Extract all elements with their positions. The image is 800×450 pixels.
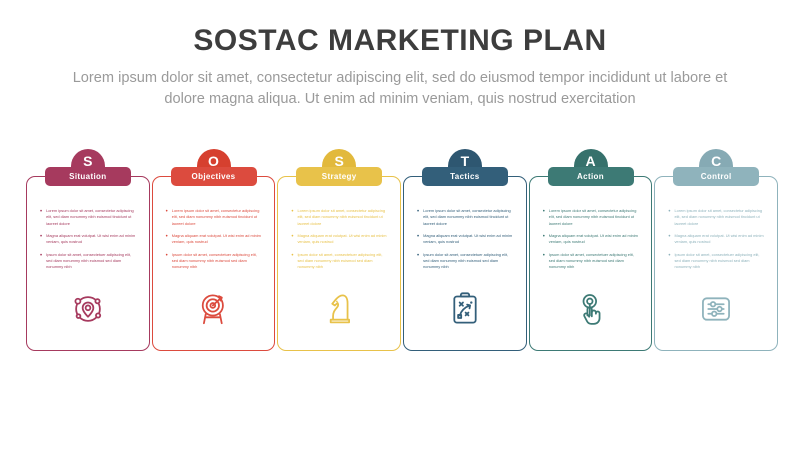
infographic-root: SOSTAC MARKETING PLAN Lorem ipsum dolor … <box>0 0 800 450</box>
bullet-text: Magna aliquam erat volutpat. Ut wisi eni… <box>423 233 513 246</box>
card-letter: O <box>208 154 219 168</box>
bullet-dot-icon: • <box>417 252 419 271</box>
sliders-settings-icon <box>696 289 736 329</box>
bullet-item: •Lorem ipsum dolor sit amet, consectetur… <box>40 208 136 227</box>
bullet-text: Lorem ipsum dolor sit amet, consectetur … <box>172 208 262 227</box>
card-title-label: Control <box>701 172 732 181</box>
header: SOSTAC MARKETING PLAN Lorem ipsum dolor … <box>0 0 800 110</box>
bullet-dot-icon: • <box>166 208 168 227</box>
sostac-card-action[interactable]: AAction•Lorem ipsum dolor sit amet, cons… <box>529 176 653 351</box>
bullet-dot-icon: • <box>543 233 545 246</box>
bullet-item: •Magna aliquam erat volutpat. Ut wisi en… <box>668 233 764 246</box>
bullet-dot-icon: • <box>40 233 42 246</box>
bullet-dot-icon: • <box>543 252 545 271</box>
bullet-dot-icon: • <box>543 208 545 227</box>
card-letter: S <box>335 154 344 168</box>
bullet-item: •Ipsum dolor sit amet, consectetuer adip… <box>668 252 764 271</box>
card-letter: T <box>461 154 470 168</box>
bullet-item: •Magna aliquam erat volutpat. Ut wisi en… <box>543 233 639 246</box>
bullet-item: •Lorem ipsum dolor sit amet, consectetur… <box>417 208 513 227</box>
bullet-item: •Ipsum dolor sit amet, consectetuer adip… <box>543 252 639 271</box>
card-bullet-list: •Lorem ipsum dolor sit amet, consectetur… <box>413 208 517 277</box>
bullet-item: •Ipsum dolor sit amet, consectetuer adip… <box>166 252 262 271</box>
sostac-card-strategy[interactable]: SStrategy•Lorem ipsum dolor sit amet, co… <box>277 176 401 351</box>
location-pin-orbit-icon <box>68 289 108 329</box>
sostac-card-objectives[interactable]: OObjectives•Lorem ipsum dolor sit amet, … <box>152 176 276 351</box>
bullet-dot-icon: • <box>166 252 168 271</box>
page-title: SOSTAC MARKETING PLAN <box>0 24 800 57</box>
hand-tap-icon <box>571 289 611 329</box>
card-bullet-list: •Lorem ipsum dolor sit amet, consectetur… <box>36 208 140 277</box>
card-title-tab-objectives[interactable]: Objectives <box>171 167 257 186</box>
card-bullet-list: •Lorem ipsum dolor sit amet, consectetur… <box>539 208 643 277</box>
card-title-label: Objectives <box>192 172 236 181</box>
card-title-tab-situation[interactable]: Situation <box>45 167 131 186</box>
bullet-item: •Ipsum dolor sit amet, consectetuer adip… <box>40 252 136 271</box>
bullet-text: Ipsum dolor sit amet, consectetuer adipi… <box>674 252 764 271</box>
sostac-card-control[interactable]: CControl•Lorem ipsum dolor sit amet, con… <box>654 176 778 351</box>
bullet-item: •Magna aliquam erat volutpat. Ut wisi en… <box>291 233 387 246</box>
card-title-label: Strategy <box>322 172 357 181</box>
bullet-dot-icon: • <box>291 208 293 227</box>
bullet-dot-icon: • <box>166 233 168 246</box>
bullet-dot-icon: • <box>668 233 670 246</box>
bullet-text: Magna aliquam erat volutpat. Ut wisi eni… <box>46 233 136 246</box>
bullet-text: Lorem ipsum dolor sit amet, consectetur … <box>549 208 639 227</box>
bullet-item: •Ipsum dolor sit amet, consectetuer adip… <box>291 252 387 271</box>
card-title-tab-action[interactable]: Action <box>548 167 634 186</box>
bullet-text: Ipsum dolor sit amet, consectetuer adipi… <box>549 252 639 271</box>
card-letter: C <box>711 154 721 168</box>
card-bullet-list: •Lorem ipsum dolor sit amet, consectetur… <box>664 208 768 277</box>
sostac-card-tactics[interactable]: TTactics•Lorem ipsum dolor sit amet, con… <box>403 176 527 351</box>
bullet-dot-icon: • <box>668 208 670 227</box>
bullet-item: •Lorem ipsum dolor sit amet, consectetur… <box>543 208 639 227</box>
bullet-text: Lorem ipsum dolor sit amet, consectetur … <box>423 208 513 227</box>
bullet-item: •Ipsum dolor sit amet, consectetuer adip… <box>417 252 513 271</box>
bullet-dot-icon: • <box>291 233 293 246</box>
bullet-text: Magna aliquam erat volutpat. Ut wisi eni… <box>172 233 262 246</box>
bullet-text: Lorem ipsum dolor sit amet, consectetur … <box>674 208 764 227</box>
card-title-label: Situation <box>69 172 106 181</box>
clipboard-playbook-icon <box>445 289 485 329</box>
bullet-item: •Magna aliquam erat volutpat. Ut wisi en… <box>166 233 262 246</box>
bullet-text: Lorem ipsum dolor sit amet, consectetur … <box>46 208 136 227</box>
card-letter: A <box>585 154 595 168</box>
card-title-tab-control[interactable]: Control <box>673 167 759 186</box>
page-subtitle: Lorem ipsum dolor sit amet, consectetur … <box>55 68 745 110</box>
bullet-text: Ipsum dolor sit amet, consectetuer adipi… <box>46 252 136 271</box>
card-title-tab-tactics[interactable]: Tactics <box>422 167 508 186</box>
bullet-text: Ipsum dolor sit amet, consectetuer adipi… <box>297 252 387 271</box>
bullet-dot-icon: • <box>40 252 42 271</box>
card-bullet-list: •Lorem ipsum dolor sit amet, consectetur… <box>162 208 266 277</box>
bullet-item: •Lorem ipsum dolor sit amet, consectetur… <box>668 208 764 227</box>
bullet-item: •Magna aliquam erat volutpat. Ut wisi en… <box>40 233 136 246</box>
bullet-text: Magna aliquam erat volutpat. Ut wisi eni… <box>674 233 764 246</box>
bullet-dot-icon: • <box>417 233 419 246</box>
bullet-dot-icon: • <box>291 252 293 271</box>
target-arrow-icon <box>194 289 234 329</box>
sostac-card-situation[interactable]: SSituation•Lorem ipsum dolor sit amet, c… <box>26 176 150 351</box>
bullet-text: Ipsum dolor sit amet, consectetuer adipi… <box>172 252 262 271</box>
card-bullet-list: •Lorem ipsum dolor sit amet, consectetur… <box>287 208 391 277</box>
card-letter: S <box>83 154 92 168</box>
card-title-label: Action <box>577 172 604 181</box>
sostac-cards-row: SSituation•Lorem ipsum dolor sit amet, c… <box>26 176 778 351</box>
bullet-text: Lorem ipsum dolor sit amet, consectetur … <box>297 208 387 227</box>
bullet-dot-icon: • <box>668 252 670 271</box>
bullet-item: •Lorem ipsum dolor sit amet, consectetur… <box>291 208 387 227</box>
bullet-item: •Lorem ipsum dolor sit amet, consectetur… <box>166 208 262 227</box>
card-title-label: Tactics <box>450 172 479 181</box>
bullet-text: Magna aliquam erat volutpat. Ut wisi eni… <box>297 233 387 246</box>
bullet-dot-icon: • <box>40 208 42 227</box>
bullet-text: Magna aliquam erat volutpat. Ut wisi eni… <box>549 233 639 246</box>
bullet-dot-icon: • <box>417 208 419 227</box>
bullet-item: •Magna aliquam erat volutpat. Ut wisi en… <box>417 233 513 246</box>
chess-knight-icon <box>319 289 359 329</box>
card-title-tab-strategy[interactable]: Strategy <box>296 167 382 186</box>
bullet-text: Ipsum dolor sit amet, consectetuer adipi… <box>423 252 513 271</box>
